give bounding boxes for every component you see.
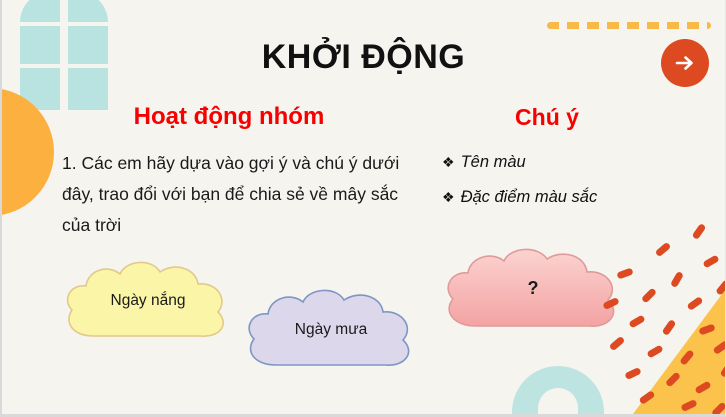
list-item-label: Tên màu [461,153,526,171]
list-item-label: Đặc điểm màu sắc [461,188,598,206]
diamond-bullet-icon: ❖ [442,154,455,170]
confetti-dash [646,344,663,358]
confetti-dash [680,399,697,412]
confetti-dash [698,323,715,335]
confetti-dash [670,271,684,288]
confetti-dash [638,390,655,405]
confetti-dash [662,319,677,336]
left-section-heading: Hoạt động nhóm [98,103,360,131]
confetti-dash [655,242,672,258]
cloud-shape-rainy-day[interactable]: Ngày mưa [240,285,422,381]
cloud-label: Ngày nắng [60,292,236,310]
confetti-dash [715,279,726,296]
gift-bow-right [68,0,108,22]
right-section-heading: Chú ý [457,104,637,131]
list-item: ❖Đặc điểm màu sắc [442,188,702,207]
task-paragraph: 1. Các em hãy dựa vào gợi ý và chú ý dướ… [62,148,412,241]
confetti-dash [679,349,695,366]
confetti-dash [641,287,657,303]
gift-bow-left [20,0,60,22]
confetti-dash [686,296,703,311]
diamond-bullet-icon: ❖ [442,189,455,205]
teal-arch-decoration [512,366,604,414]
slide-canvas: KHỞI ĐỘNG Hoạt động nhóm 1. Các em hãy d… [0,0,726,417]
confetti-dash [711,401,726,417]
confetti-dash [692,223,707,240]
confetti-dash [694,380,711,394]
confetti-dash [712,340,726,355]
confetti-dash [702,254,719,268]
cloud-label: ? [438,278,628,299]
list-item: ❖Tên màu [442,153,702,172]
confetti-dash [720,361,726,378]
page-title: KHỞI ĐỘNG [2,38,725,77]
confetti-dash [624,367,641,380]
dashed-line-decoration [547,22,711,29]
cloud-shape-sunny-day[interactable]: Ngày nắng [60,258,236,354]
cloud-label: Ngày mưa [240,321,422,339]
confetti-dash [609,336,626,352]
confetti-dash [665,371,681,387]
confetti-decoration [595,214,725,414]
notes-list: ❖Tên màu ❖Đặc điểm màu sắc [442,153,702,223]
confetti-dash [628,314,645,328]
